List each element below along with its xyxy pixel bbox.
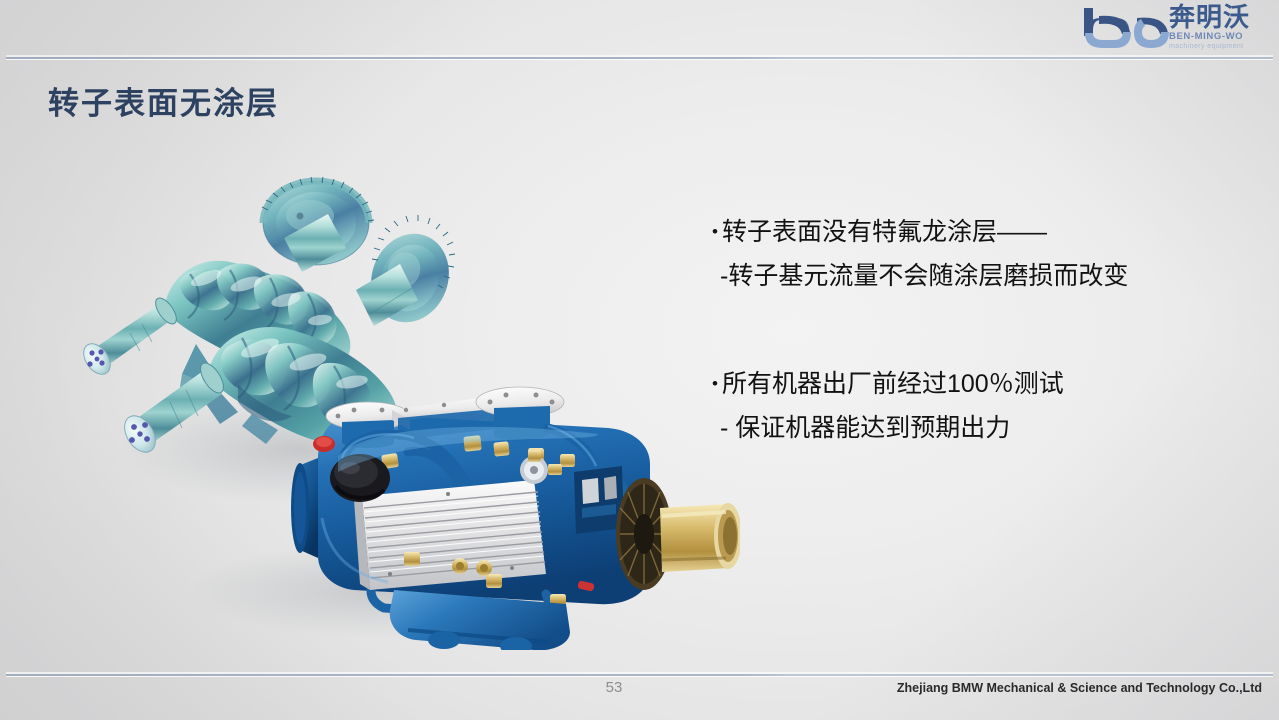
slide-header: 奔明沃 BEN-MING-WO machinery equipment [0, 0, 1279, 58]
oil-cooler-assembly [354, 480, 546, 590]
page-title: 转子表面无涂层 [48, 78, 279, 123]
drive-coupling-cylinder [660, 503, 740, 572]
bo-monogram-icon [1081, 6, 1171, 50]
logo-subtitle: machinery equipment [1169, 42, 1269, 51]
logo-english-name: BEN-MING-WO [1169, 31, 1269, 42]
footer-divider [6, 674, 1273, 676]
bullet-2-lead: 所有机器出厂前经过100％测试 [712, 362, 1252, 406]
bullet-1-sub: -转子基元流量不会随涂层磨损而改变 [712, 254, 1252, 298]
bullet-group-2: 所有机器出厂前经过100％测试 - 保证机器能达到预期出力 [712, 362, 1252, 450]
logo-chinese-name: 奔明沃 [1169, 4, 1269, 31]
bullet-2-sub: - 保证机器能达到预期出力 [712, 406, 1252, 450]
footer-company-name: Zhejiang BMW Mechanical & Science and Te… [897, 681, 1262, 695]
bullet-1-lead: 转子表面没有特氟龙涂层—— [712, 210, 1252, 254]
slide-canvas: 奔明沃 BEN-MING-WO machinery equipment 转子表面… [0, 0, 1279, 720]
product-illustration [60, 150, 740, 650]
bullet-content: 转子表面没有特氟龙涂层—— -转子基元流量不会随涂层磨损而改变 所有机器出厂前经… [712, 210, 1252, 450]
page-number: 53 [594, 679, 634, 696]
bullet-group-1: 转子表面没有特氟龙涂层—— -转子基元流量不会随涂层磨损而改变 [712, 210, 1252, 298]
header-divider [6, 57, 1273, 59]
artwork-svg [60, 150, 740, 650]
company-logo: 奔明沃 BEN-MING-WO machinery equipment [1065, 2, 1271, 54]
logo-wordmark: 奔明沃 BEN-MING-WO machinery equipment [1169, 4, 1269, 52]
